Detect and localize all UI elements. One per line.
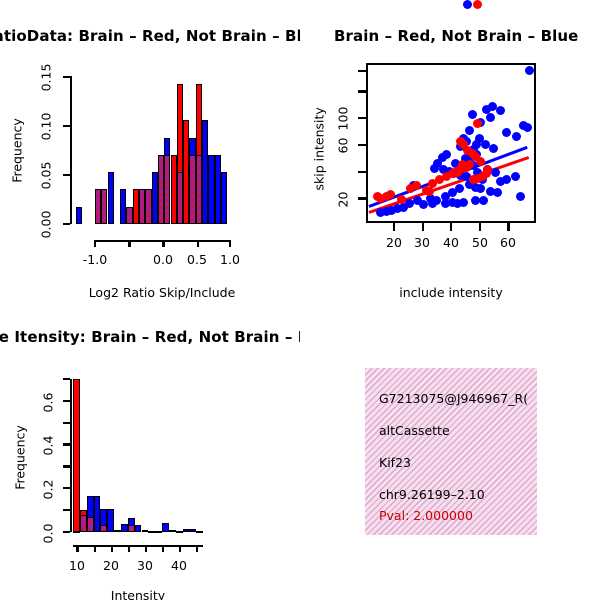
gene-info-pvalue: Pval: 2.000000	[379, 508, 473, 523]
scatter-y-tick	[358, 70, 366, 72]
figure-canvas: RatioData: Brain – Red, Not Brain – Blu …	[0, 0, 600, 600]
panel-gene-info: G7213075@J946967_R( altCassette Kif23 ch…	[300, 300, 600, 600]
ratio-x-tick	[128, 240, 130, 247]
scatter-x-axis-title: include intensity	[351, 285, 551, 300]
scatter-y-ticklabel: 100	[336, 97, 351, 141]
scatter-y-tick	[358, 117, 366, 119]
panel-ratio-histogram: RatioData: Brain – Red, Not Brain – Blu …	[0, 0, 300, 300]
histogram-bar	[196, 531, 203, 533]
ratio-y-ticklabel: 0.10	[39, 106, 54, 148]
intensity-y-tick	[63, 443, 70, 445]
histogram-bar	[176, 531, 183, 533]
intensity-x-tick	[128, 545, 130, 552]
intensity-x-axis	[73, 545, 203, 547]
panel-intensity-histogram: ne Itensity: Brain – Red, Not Brain – B …	[0, 300, 300, 600]
intensity-y-tick	[63, 531, 70, 533]
histogram-bar	[107, 509, 114, 532]
ratio-y-tick	[63, 223, 70, 225]
intensity-x-tick	[111, 545, 113, 552]
scatter-x-tick	[507, 223, 509, 231]
ratio-x-ticklabel: 1.0	[209, 252, 251, 267]
scatter-point	[502, 128, 511, 137]
histogram-bar	[121, 524, 128, 532]
ratio-y-tick	[63, 76, 70, 78]
ratio-y-axis	[70, 76, 72, 224]
gene-info-gene-symbol: Kif23	[379, 455, 411, 470]
scatter-point	[512, 132, 521, 141]
intensity-x-tick	[76, 545, 78, 552]
ratio-y-tick	[63, 125, 70, 127]
histogram-bar	[108, 172, 114, 224]
intensity-y-ticklabel: 0.4	[41, 429, 56, 463]
scatter-point	[468, 110, 477, 119]
scatter-point	[511, 172, 520, 181]
intensity-x-tick	[94, 545, 96, 552]
histogram-bar	[73, 379, 80, 532]
ratio-y-ticklabel: 0.05	[39, 155, 54, 197]
scatter-point	[472, 140, 481, 149]
histogram-bar	[189, 529, 196, 532]
intensity-y-tick	[63, 378, 70, 380]
scatter-point	[489, 144, 498, 153]
intensity-y-tick	[63, 487, 70, 489]
scatter-title: Brain – Red, Not Brain – Blue	[334, 27, 578, 45]
ratio-x-tick	[94, 240, 96, 247]
gene-info-locus: chr9.26199–2.10	[379, 487, 485, 502]
scatter-point	[486, 113, 495, 122]
gene-info-event-type: altCassette	[379, 423, 450, 438]
panel-intensity-scatter: Brain – Red, Not Brain – Blue	[300, 0, 600, 300]
scatter-point	[425, 187, 434, 196]
intensity-y-tick	[63, 509, 70, 511]
scatter-x-tick	[422, 223, 424, 231]
histogram-bar	[94, 496, 101, 532]
ratio-y-ticklabel: 0.15	[39, 57, 54, 99]
intensity-y-axis-title: Frequency	[13, 423, 28, 493]
scatter-x-ticklabel: 60	[487, 235, 529, 250]
scatter-x-tick	[393, 223, 395, 231]
intensity-x-axis-title: Intensity	[38, 588, 238, 600]
scatter-y-tick	[358, 197, 366, 199]
scatter-y-tick	[358, 144, 366, 146]
ratio-y-axis-title: Frequency	[10, 116, 25, 186]
scatter-point	[473, 0, 482, 9]
intensity-x-tick	[145, 545, 147, 552]
intensity-histogram-title: ne Itensity: Brain – Red, Not Brain – B	[0, 328, 300, 346]
ratio-x-tick	[197, 240, 199, 247]
intensity-y-ticklabel: 0.0	[41, 517, 56, 551]
scatter-y-tick	[358, 171, 366, 173]
scatter-point	[463, 0, 472, 9]
scatter-point	[459, 198, 468, 207]
intensity-y-tick	[63, 400, 70, 402]
scatter-y-axis-title: skip intensity	[312, 111, 327, 191]
histogram-bar	[221, 172, 227, 224]
intensity-y-ticklabel: 0.6	[41, 386, 56, 420]
histogram-bar	[135, 525, 142, 532]
ratio-x-axis-title: Log2 Ratio Skip/Include	[62, 285, 262, 300]
intensity-y-tick	[63, 465, 70, 467]
scatter-point	[471, 183, 480, 192]
ratio-x-tick	[162, 240, 164, 247]
intensity-y-tick	[63, 422, 70, 424]
ratio-x-ticklabel: -1.0	[74, 252, 116, 267]
histogram-bar	[162, 523, 169, 532]
scatter-x-tick	[479, 223, 481, 231]
intensity-y-ticklabel: 0.2	[41, 473, 56, 507]
ratio-x-tick	[229, 240, 231, 247]
histogram-bar	[148, 531, 155, 533]
intensity-x-tick	[196, 545, 198, 552]
scatter-point	[525, 66, 534, 75]
histogram-bar	[80, 510, 87, 516]
scatter-point	[465, 126, 474, 135]
scatter-y-tick	[358, 90, 366, 92]
gene-info-probe-id: G7213075@J946967_R(	[379, 391, 528, 406]
ratio-y-tick	[63, 174, 70, 176]
ratio-histogram-title: RatioData: Brain – Red, Not Brain – Blu	[0, 27, 300, 45]
histogram-bar	[76, 207, 82, 224]
gene-info-box: G7213075@J946967_R( altCassette Kif23 ch…	[365, 368, 537, 535]
intensity-x-tick	[179, 545, 181, 552]
scatter-x-tick	[450, 223, 452, 231]
intensity-x-tick	[162, 545, 164, 552]
scatter-point	[502, 175, 511, 184]
intensity-x-ticklabel: 40	[158, 558, 200, 573]
ratio-y-ticklabel: 0.00	[39, 204, 54, 246]
scatter-y-ticklabel: 20	[336, 181, 351, 219]
